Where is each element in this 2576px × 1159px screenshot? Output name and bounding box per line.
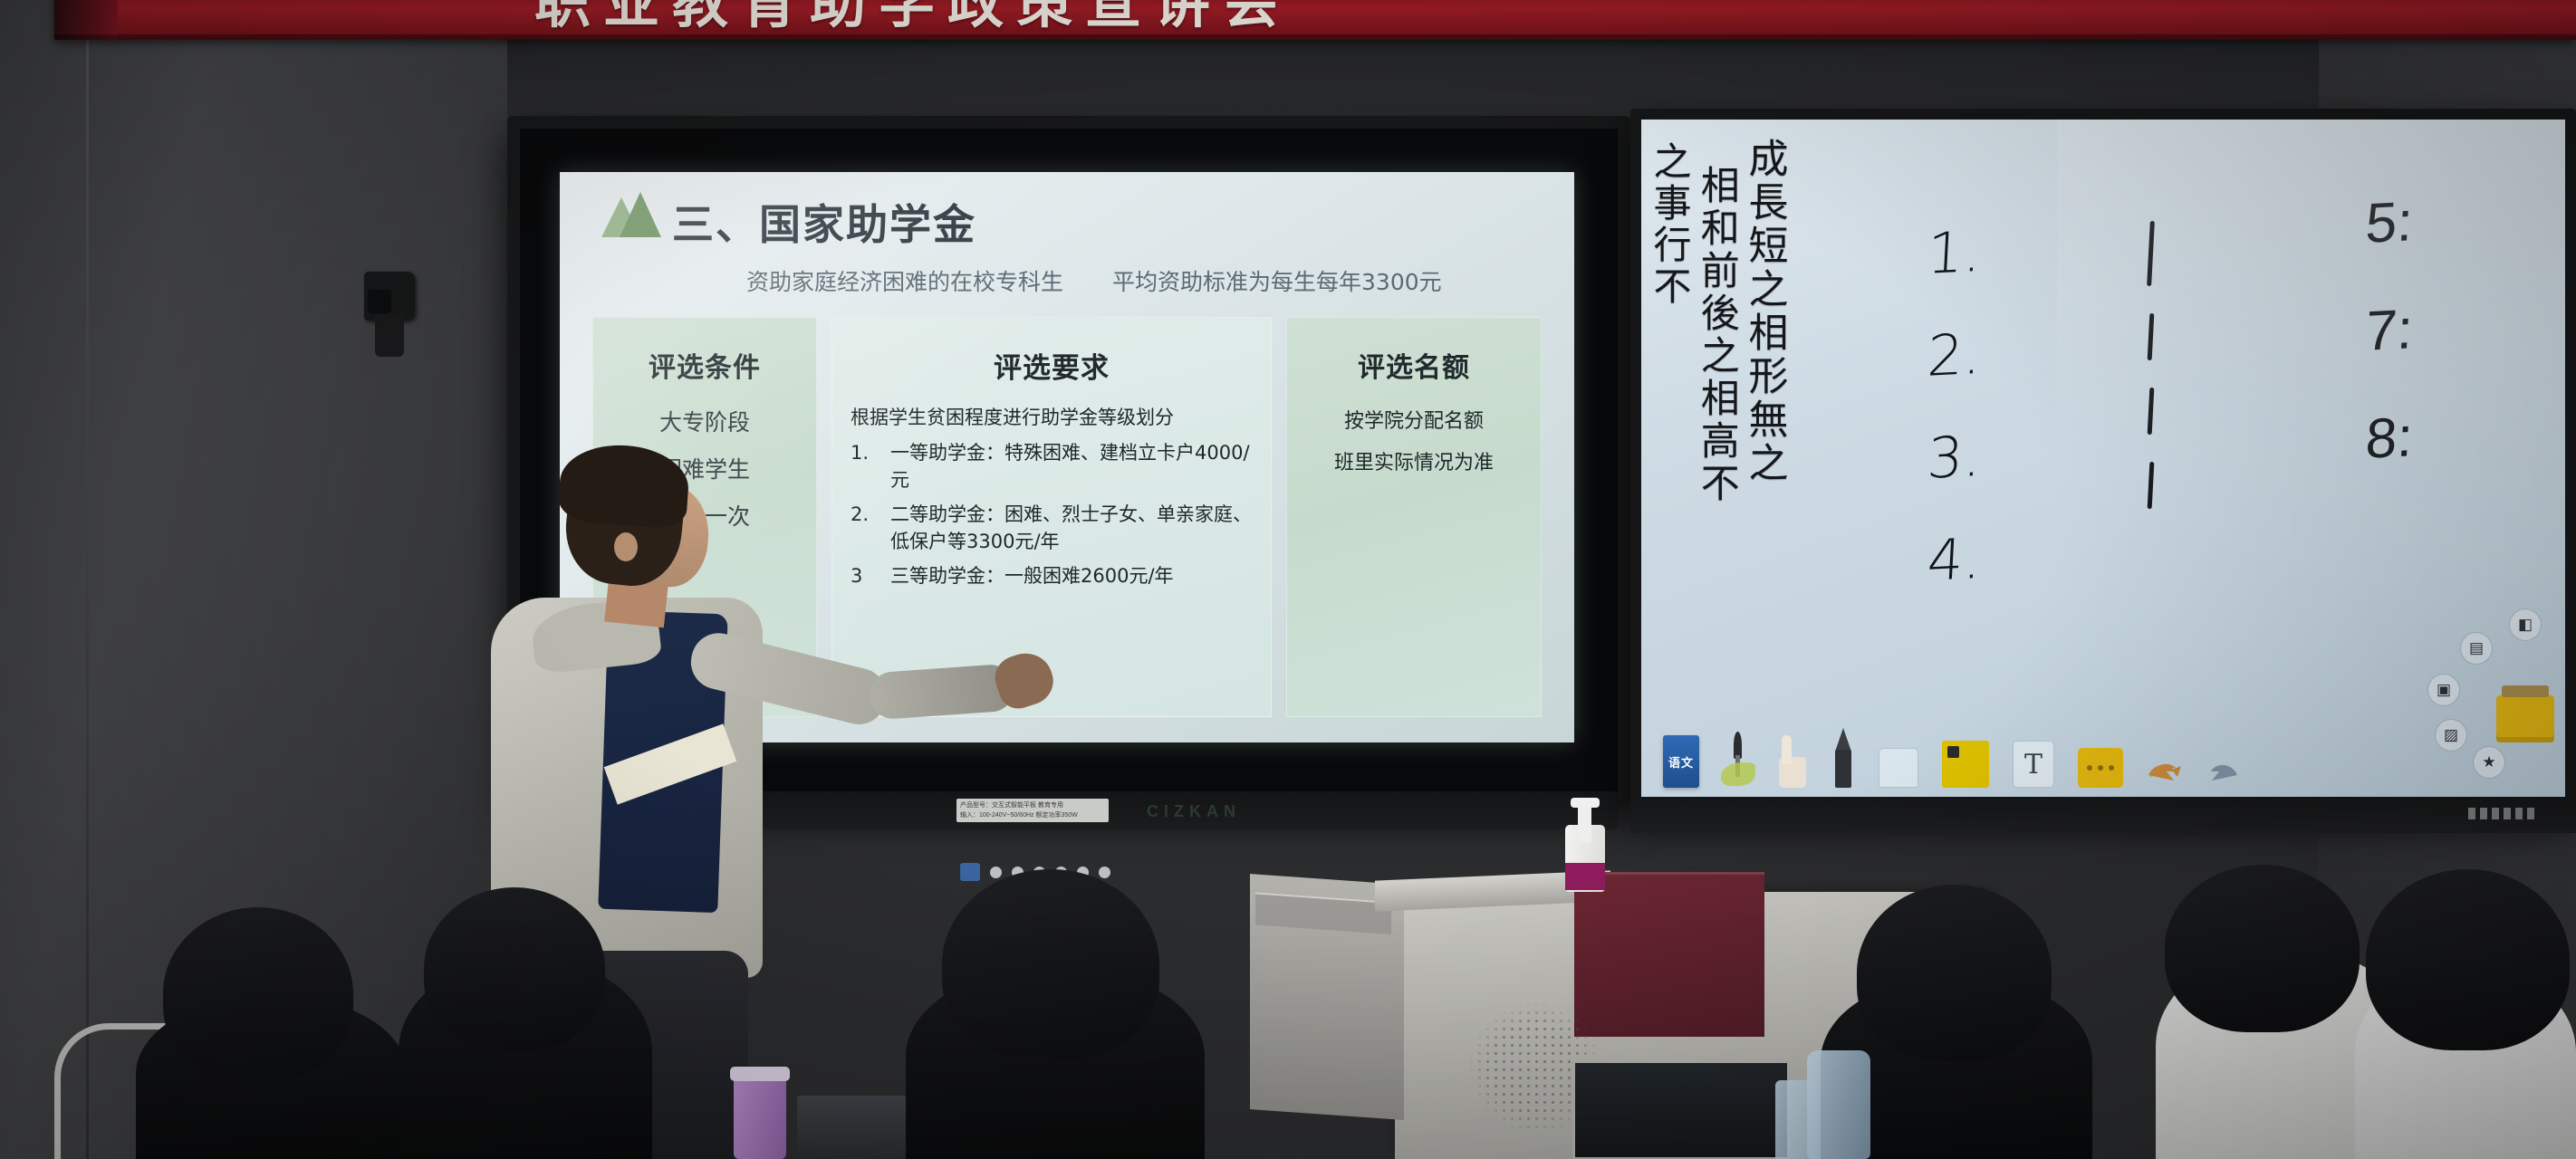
text-tool-icon[interactable]: T [2013,741,2054,788]
display-spec-label: 产品型号：交互式智能平板 教育专用 输入：100-240V~50/60Hz 额定… [956,799,1109,822]
handwritten-number-list-left: 1. 2. 3. 4. [1927,219,1994,628]
status-led [2504,808,2511,819]
mountain-triangles-icon [601,192,661,237]
purple-cup-icon [734,1076,786,1159]
pencil-icon[interactable] [1831,728,1855,788]
audience-member [424,887,605,1050]
textbook-label: 语文 [1663,735,1699,788]
classroom-scene: 职业教育助学政策宣讲会 三、国家助学金 资助家庭经济困难的在校专科生平均资助标准… [0,0,2576,1159]
podium-monitor-icon[interactable] [1572,1060,1790,1159]
calligraphy-text: 成長短之相形無之 相和前後之相高不 之事行不 [1648,138,1786,717]
panel-quota-line: 班里实际情况为准 [1300,446,1528,475]
cup-lid [730,1067,790,1081]
display-brand-logo: CIZKAN [1147,802,1241,821]
status-led [2527,808,2534,819]
whiteboard-canvas[interactable]: 成長短之相形無之 相和前後之相高不 之事行不 1. 2. 3. 4. [1641,120,2565,804]
list-item: 1. [1927,219,1994,285]
water-bottle-icon [1807,1050,1870,1159]
status-led [2480,808,2487,819]
audience-member [2165,865,2360,1032]
list-item: 2. [1927,321,1994,388]
handwritten-number: 3. [1926,422,1996,492]
slide-subtitle: 资助家庭经济困难的在校专科生平均资助标准为每生每年3300元 [746,264,1442,297]
ruler-icon[interactable] [1942,741,1989,788]
presenter-ear [614,532,638,561]
brush-icon[interactable] [1723,732,1754,788]
pointer-hand-icon[interactable] [1777,735,1808,788]
audience-member [1857,885,2052,1061]
sanitizer-nozzle [1571,798,1600,808]
calligraphy-column: 之事行不 [1648,141,1691,717]
sanitizer-label [1565,863,1605,890]
digital-whiteboard[interactable]: 成長短之相形無之 相和前後之相高不 之事行不 1. 2. 3. 4. [1630,109,2576,815]
camera-mount [375,315,404,357]
spec-line-1: 产品型号：交互式智能平板 教育专用 [960,801,1105,811]
whiteboard-bezel [1630,797,2576,833]
wall-camera-icon [342,261,426,359]
status-led [2492,808,2499,819]
camera-body [364,272,415,321]
presenter-hair [557,441,691,530]
wall-seam [86,0,89,1159]
whiteboard-glare [2057,120,2565,804]
audience-member [163,907,353,1079]
banner-text: 职业教育助学政策宣讲会 [534,0,1292,38]
whiteboard-status-leds [2468,808,2534,819]
panel-quota-heading: 评选名额 [1300,345,1528,385]
panel-requirements-heading: 评选要求 [845,345,1258,386]
panel-criteria-heading: 评选条件 [606,345,803,385]
handwritten-number: 1. [1926,217,1996,287]
slide-subtitle-right: 平均资助标准为每生每年3300元 [1112,269,1442,295]
status-led [2468,808,2475,819]
spec-line-2: 输入：100-240V~50/60Hz 额定功率350W [960,811,1105,821]
handwritten-number: 4. [1926,524,1996,594]
textbook-icon[interactable]: 语文 [1663,735,1699,788]
red-banner: 职业教育助学政策宣讲会 [54,0,2576,40]
list-item: 3. [1927,424,1994,490]
panel-quota-line: 按学院分配名额 [1300,405,1528,434]
list-item: 4. [1927,526,1994,592]
menu-button[interactable] [990,867,1002,878]
calligraphy-column: 相和前後之相高不 [1695,165,1738,717]
slide-subtitle-left: 资助家庭经济困难的在校专科生 [746,269,1063,295]
hand-sanitizer-bottle-icon [1565,790,1605,892]
audience-member [2366,869,2570,1050]
camera-lens [368,290,391,313]
banner-edge [54,34,2576,40]
status-led [2515,808,2523,819]
settings-button[interactable] [1099,867,1110,878]
panel-quota: 评选名额 按学院分配名额 班里实际情况为准 [1286,317,1542,717]
handwritten-number: 2. [1926,320,1996,389]
calligraphy-column: 成長短之相形無之 [1742,138,1786,717]
sanitizer-pump [1578,805,1591,843]
lectern-drawer[interactable] [1255,892,1391,934]
audience-member [942,869,1159,1059]
eraser-icon[interactable] [1879,748,1918,788]
slide-title: 三、国家助学金 [672,192,976,252]
